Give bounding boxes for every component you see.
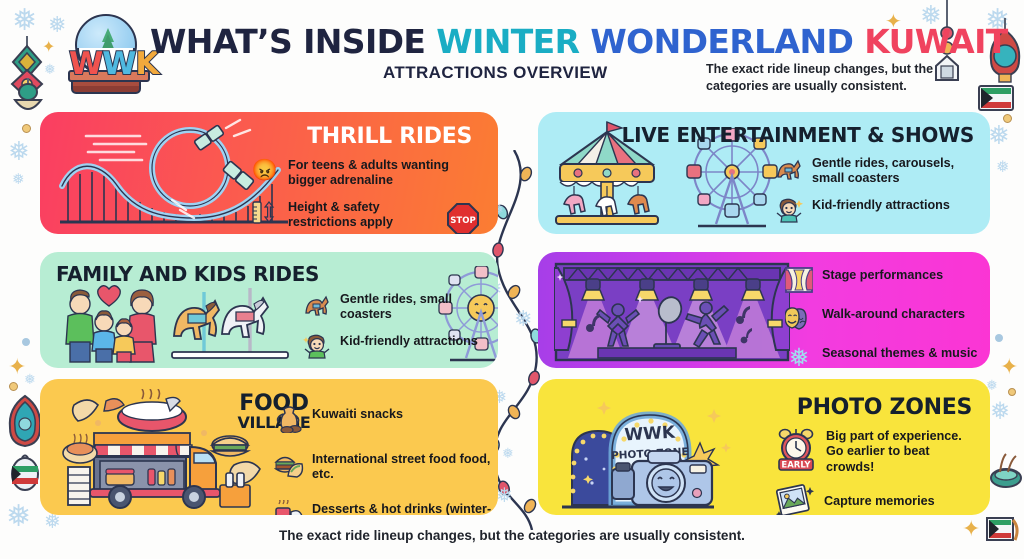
stage-curtain-icon <box>784 266 814 294</box>
stop-badge: STOP <box>446 202 480 234</box>
happy-kid-icon <box>774 196 804 224</box>
snowflake-icon: ❅ <box>8 138 30 164</box>
infographic-page: ❅ ❅ ✦ ❅ ❅ ❅ ✦ ❅ <box>0 0 1024 559</box>
photo-frame-icon <box>776 484 816 515</box>
hot-drink-cupcake-icon <box>274 500 304 515</box>
bullet-text: Seasonal themes & music <box>822 344 977 361</box>
bullet-list-thrill: 😡 For teens & adults wanting bigger adre… <box>250 156 480 234</box>
bullet-text: Gentle rides, small coasters <box>340 290 486 323</box>
bullet-item: 😡 For teens & adults wanting bigger adre… <box>250 156 480 189</box>
snowflake-icon: ❅ <box>12 172 25 187</box>
bauble-dot <box>1008 388 1016 396</box>
card-title-live-entertainment: LIVE ENTERTAINMENT & SHOWS <box>622 123 974 147</box>
bullet-text: Stage performances <box>822 266 943 283</box>
bullet-item: Walk-around characters <box>784 305 980 333</box>
bauble-dot <box>9 382 18 391</box>
card-title-family-kids: FAMILY AND KIDS RIDES <box>56 262 319 286</box>
sparkle-icon: ✦ <box>8 356 26 378</box>
ruler-height-arrow-icon <box>250 198 280 226</box>
header-note: The exact ride lineup changes, but the c… <box>706 61 946 94</box>
snowflake-icon: ❅ <box>24 372 36 386</box>
burger-taco-icon <box>274 450 304 478</box>
snowflake-icon: ❅ <box>996 160 1009 176</box>
snowflake-icon: ❅ <box>988 122 1010 148</box>
bullet-item: Capture memories <box>776 484 976 515</box>
snowflake-icon: ❅ <box>784 344 814 368</box>
bullet-text: Capture memories <box>824 492 935 509</box>
angry-face-icon: 😡 <box>250 156 280 184</box>
page-subtitle: ATTRACTIONS OVERVIEW <box>383 63 608 83</box>
dallah-coffee-pot-icon <box>274 405 304 433</box>
bullet-text: Big part of experience. Go earlier to be… <box>826 427 976 475</box>
bullet-item: Kuwaiti snacks <box>274 405 496 433</box>
bullet-item: Height & safety restrictions apply STOP <box>250 198 480 234</box>
bullet-item: Desserts & hot drinks (winter-friendly) <box>274 500 496 515</box>
title-part-wonderland: WONDERLAND <box>590 22 853 61</box>
bauble-dot <box>1003 114 1012 123</box>
bullet-text: Kid-friendly attractions <box>812 196 950 213</box>
bauble-dot <box>22 338 30 346</box>
sparkle-icon: ✦ <box>1000 356 1018 378</box>
header: WWK WHAT’S INSIDE WINTER WONDERLAND KUWA… <box>0 0 1024 104</box>
stage-illustration <box>554 262 790 362</box>
title-part-kuwait: KUWAIT <box>864 22 1007 61</box>
theatre-masks-icon <box>784 305 814 333</box>
bullet-text: International street food food, etc. <box>312 450 496 483</box>
bullet-list-live: Gentle rides, carousels, small coasters … <box>774 154 976 233</box>
bullet-item: ❅ Seasonal themes & music <box>784 344 980 368</box>
card-thrill-rides[interactable]: THRILL RIDES 😡 For teens & adults wantin… <box>40 112 498 234</box>
family-illustration <box>58 284 164 364</box>
card-title-photo-zones: PHOTO ZONES <box>797 395 972 420</box>
card-live-entertainment[interactable]: LIVE ENTERTAINMENT & SHOWS Gentle rides,… <box>538 112 990 234</box>
bullet-list-stage: Stage performances Walk-around character… <box>784 266 980 368</box>
early-badge-label: EARLY <box>781 461 811 471</box>
svg-text:STOP: STOP <box>450 216 475 226</box>
bullet-item: Kid-friendly attractions <box>774 196 976 224</box>
card-photo-zones[interactable]: WWK PHOTO ZONE PHOTO ZON <box>538 379 990 515</box>
bauble-dot <box>22 124 31 133</box>
carousel-horse-icon <box>302 290 332 318</box>
alarm-clock-early-icon: EARLY <box>776 427 818 473</box>
bullet-text: For teens & adults wanting bigger adrena… <box>288 156 480 189</box>
kuwait-flag-icon <box>10 452 40 492</box>
logo-letter-w1: W <box>69 46 102 82</box>
wwk-logo-letters: WWK <box>69 46 145 82</box>
bullet-item: EARLY Big part of experience. Go earlier… <box>776 427 976 475</box>
bullet-text: Height & safety restrictions apply <box>288 198 436 231</box>
title-part-winter: WINTER <box>436 22 579 61</box>
wwk-logo: WWK <box>57 12 155 96</box>
title-part-whats-inside: WHAT’S INSIDE <box>150 22 425 61</box>
snowflake-icon: ❅ <box>990 400 1010 424</box>
photo-arch-illustration: WWK PHOTO ZONE <box>554 387 786 511</box>
bullet-item: International street food food, etc. <box>274 450 496 483</box>
bullet-item: Gentle rides, carousels, small coasters <box>774 154 976 187</box>
logo-letter-w2: W <box>102 46 135 82</box>
bullet-text: Kid-friendly attractions <box>340 332 478 349</box>
dallah-icon <box>988 448 1024 488</box>
bullet-list-photo: EARLY Big part of experience. Go earlier… <box>776 427 976 515</box>
bauble-dot <box>995 334 1003 342</box>
bullet-text: Desserts & hot drinks (winter-friendly) <box>312 500 496 515</box>
card-family-kids-rides[interactable]: FAMILY AND KIDS RIDES <box>40 252 498 368</box>
bullet-text: Walk-around characters <box>822 305 965 322</box>
carousel-horse-icon <box>774 154 804 182</box>
bullet-item: Kid-friendly attractions <box>302 332 486 360</box>
bullet-text: Kuwaiti snacks <box>312 405 403 422</box>
happy-kid-icon <box>302 332 332 360</box>
bullet-list-food: Kuwaiti snacks International street food… <box>274 405 496 515</box>
card-title-thrill-rides: THRILL RIDES <box>307 124 472 149</box>
page-title: WHAT’S INSIDE WINTER WONDERLAND KUWAIT <box>150 22 1008 61</box>
carousel-horses-illustration <box>170 288 292 364</box>
arch-label-wwk: WWK <box>624 423 676 446</box>
card-stage-shows[interactable]: Stage performances Walk-around character… <box>538 252 990 368</box>
bullet-list-family: Gentle rides, small coasters Kid-friendl… <box>302 290 486 368</box>
bullet-item: Gentle rides, small coasters <box>302 290 486 323</box>
bullet-item: Stage performances <box>784 266 980 294</box>
lantern-icon <box>6 394 44 450</box>
footer-note: The exact ride lineup changes, but the c… <box>0 528 1024 543</box>
card-food-village[interactable]: FOOD VILLAGE Kuwaiti snacks <box>40 379 498 515</box>
bullet-text: Gentle rides, carousels, small coasters <box>812 154 976 187</box>
